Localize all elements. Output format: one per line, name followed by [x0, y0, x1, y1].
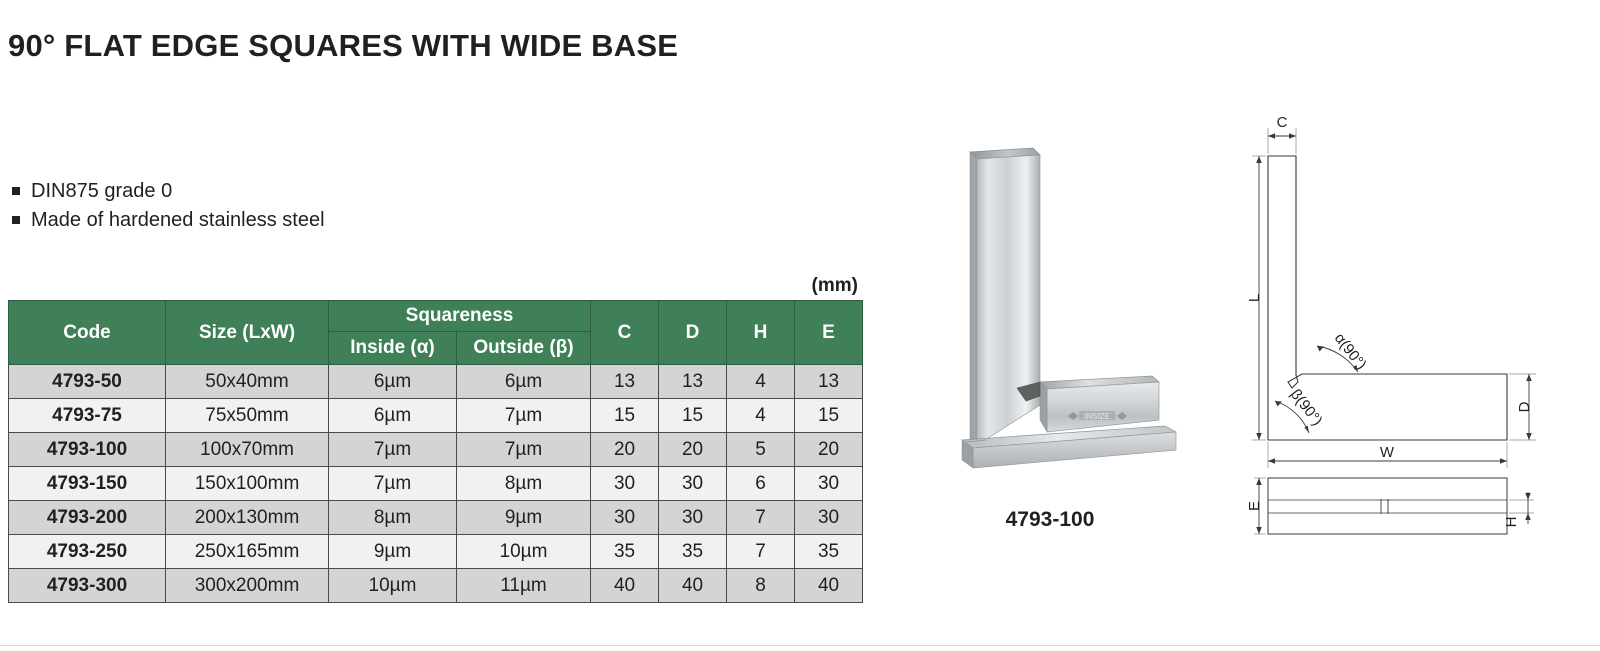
- cell-e: 13: [795, 365, 863, 399]
- footer-divider: [0, 645, 1600, 646]
- bottom-view-outline: [1268, 478, 1507, 534]
- cell-c: 35: [591, 535, 659, 569]
- cell-h: 6: [727, 467, 795, 501]
- beta-arrow-end: [1305, 426, 1310, 434]
- cell-inside: 9µm: [329, 535, 457, 569]
- specification-table: Code Size (LxW) Squareness C D H E Insid…: [8, 300, 863, 603]
- column-header-squareness: Squareness: [329, 301, 591, 332]
- cell-d: 15: [659, 399, 727, 433]
- feature-list: DIN875 grade 0 Made of hardened stainles…: [12, 178, 712, 236]
- cell-d: 35: [659, 535, 727, 569]
- cell-outside: 11µm: [457, 569, 591, 603]
- table-row: 4793-150 150x100mm 7µm 8µm 30 30 6 30: [9, 467, 863, 501]
- w-arrow-left: [1268, 458, 1275, 464]
- cell-size: 300x200mm: [166, 569, 329, 603]
- w-arrow-right: [1500, 458, 1507, 464]
- column-header-h: H: [727, 301, 795, 365]
- cell-size: 50x40mm: [166, 365, 329, 399]
- cell-inside: 6µm: [329, 365, 457, 399]
- cell-inside: 8µm: [329, 501, 457, 535]
- dimension-label-w: W: [1380, 444, 1395, 461]
- cell-e: 30: [795, 467, 863, 501]
- arm-front-face: [1047, 382, 1159, 432]
- cell-code: 4793-250: [9, 535, 166, 569]
- cell-code: 4793-200: [9, 501, 166, 535]
- feature-text: Made of hardened stainless steel: [31, 207, 325, 233]
- cell-e: 30: [795, 501, 863, 535]
- cell-h: 7: [727, 535, 795, 569]
- cell-outside: 7µm: [457, 399, 591, 433]
- cell-c: 20: [591, 433, 659, 467]
- unit-note: (mm): [0, 275, 858, 297]
- cell-c: 30: [591, 467, 659, 501]
- angle-label-alpha: α(90°): [1331, 330, 1370, 373]
- column-header-outside: Outside (β): [457, 332, 591, 365]
- dimension-label-l: L: [1246, 294, 1263, 302]
- table-body: 4793-50 50x40mm 6µm 6µm 13 13 4 13 4793-…: [9, 365, 863, 603]
- h-arrow-top: [1525, 493, 1531, 500]
- table-row: 4793-75 75x50mm 6µm 7µm 15 15 4 15: [9, 399, 863, 433]
- cell-code: 4793-75: [9, 399, 166, 433]
- cell-d: 40: [659, 569, 727, 603]
- cell-code: 4793-100: [9, 433, 166, 467]
- cell-e: 40: [795, 569, 863, 603]
- table-row: 4793-100 100x70mm 7µm 7µm 20 20 5 20: [9, 433, 863, 467]
- d-arrow-bottom: [1526, 433, 1532, 440]
- d-arrow-top: [1526, 374, 1532, 381]
- l-arrow-bottom: [1256, 433, 1262, 440]
- cell-outside: 10µm: [457, 535, 591, 569]
- feature-item: DIN875 grade 0: [12, 178, 712, 204]
- cell-outside: 6µm: [457, 365, 591, 399]
- product-photo-caption: 4793-100: [900, 508, 1200, 532]
- cell-e: 15: [795, 399, 863, 433]
- cell-code: 4793-300: [9, 569, 166, 603]
- technical-drawing-svg: C L D W α(90°): [1240, 110, 1560, 540]
- h-arrow-bottom: [1525, 513, 1531, 520]
- cell-e: 20: [795, 433, 863, 467]
- bullet-square-icon: [12, 187, 20, 195]
- cell-c: 30: [591, 501, 659, 535]
- page-title: 90° FLAT EDGE SQUARES WITH WIDE BASE: [8, 28, 678, 64]
- table-row: 4793-300 300x200mm 10µm 11µm 40 40 8 40: [9, 569, 863, 603]
- column-header-size: Size (LxW): [166, 301, 329, 365]
- e-arrow-top: [1256, 478, 1262, 485]
- dimension-label-h: H: [1503, 517, 1520, 528]
- cell-h: 5: [727, 433, 795, 467]
- column-header-e: E: [795, 301, 863, 365]
- cell-d: 13: [659, 365, 727, 399]
- column-header-code: Code: [9, 301, 166, 365]
- column-header-c: C: [591, 301, 659, 365]
- table-row: 4793-200 200x130mm 8µm 9µm 30 30 7 30: [9, 501, 863, 535]
- l-arrow-top: [1256, 156, 1262, 163]
- c-arrow-right: [1289, 133, 1296, 139]
- product-photo-svg: INSIZE: [900, 120, 1200, 500]
- cell-size: 250x165mm: [166, 535, 329, 569]
- cell-inside: 10µm: [329, 569, 457, 603]
- cell-size: 200x130mm: [166, 501, 329, 535]
- cell-outside: 9µm: [457, 501, 591, 535]
- product-photo: INSIZE: [900, 120, 1200, 500]
- cell-size: 75x50mm: [166, 399, 329, 433]
- table-row: 4793-250 250x165mm 9µm 10µm 35 35 7 35: [9, 535, 863, 569]
- cell-e: 35: [795, 535, 863, 569]
- angle-label-beta: β(90°): [1287, 386, 1326, 429]
- cell-size: 150x100mm: [166, 467, 329, 501]
- c-arrow-left: [1268, 133, 1275, 139]
- alpha-arrow-start: [1317, 346, 1324, 352]
- feature-item: Made of hardened stainless steel: [12, 207, 712, 233]
- column-header-d: D: [659, 301, 727, 365]
- cell-h: 8: [727, 569, 795, 603]
- cell-code: 4793-150: [9, 467, 166, 501]
- dimension-label-c: C: [1277, 114, 1288, 131]
- bullet-square-icon: [12, 216, 20, 224]
- dimension-label-d: D: [1516, 401, 1533, 412]
- blade-left-edge: [970, 152, 977, 445]
- cell-inside: 7µm: [329, 467, 457, 501]
- cell-outside: 8µm: [457, 467, 591, 501]
- column-header-inside: Inside (α): [329, 332, 457, 365]
- feature-text: DIN875 grade 0: [31, 178, 172, 204]
- cell-c: 13: [591, 365, 659, 399]
- cell-inside: 7µm: [329, 433, 457, 467]
- cell-inside: 6µm: [329, 399, 457, 433]
- blade-front-face: [977, 155, 1040, 445]
- svg-text:INSIZE: INSIZE: [1084, 412, 1110, 421]
- cell-c: 15: [591, 399, 659, 433]
- arm-left-edge: [1040, 382, 1047, 432]
- specification-table-container: Code Size (LxW) Squareness C D H E Insid…: [8, 300, 858, 603]
- cell-h: 4: [727, 399, 795, 433]
- cell-h: 4: [727, 365, 795, 399]
- cell-d: 30: [659, 501, 727, 535]
- technical-drawing: C L D W α(90°): [1240, 110, 1560, 540]
- table-row: 4793-50 50x40mm 6µm 6µm 13 13 4 13: [9, 365, 863, 399]
- cell-d: 20: [659, 433, 727, 467]
- cell-outside: 7µm: [457, 433, 591, 467]
- cell-d: 30: [659, 467, 727, 501]
- cell-size: 100x70mm: [166, 433, 329, 467]
- cell-h: 7: [727, 501, 795, 535]
- cell-code: 4793-50: [9, 365, 166, 399]
- table-header-row-top: Code Size (LxW) Squareness C D H E: [9, 301, 863, 332]
- dimension-label-e: E: [1246, 501, 1263, 511]
- e-arrow-bottom: [1256, 527, 1262, 534]
- cell-c: 40: [591, 569, 659, 603]
